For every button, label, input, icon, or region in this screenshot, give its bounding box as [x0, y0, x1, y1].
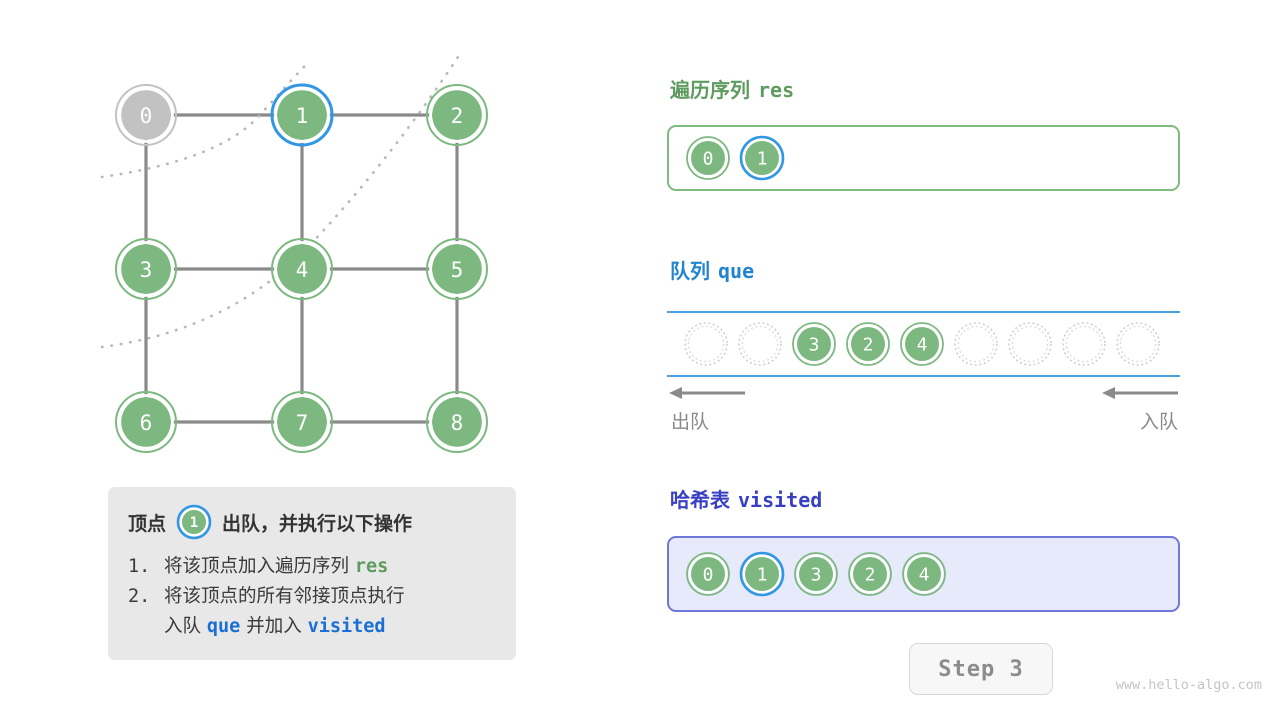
res-item: 0: [685, 135, 731, 181]
graph-panel: 012345678: [100, 55, 520, 475]
chip-label: 0: [703, 565, 714, 586]
queue-container: 324: [667, 311, 1180, 377]
code-token: visited: [308, 616, 386, 637]
caption-line: 入队 que 并加入 visited: [128, 612, 498, 642]
queue-empty-slot: [737, 321, 783, 367]
code-token-res: res: [355, 556, 388, 577]
queue-item: 2: [845, 321, 891, 367]
caption-heading: 顶点 1 出队，并执行以下操作: [128, 503, 498, 541]
enqueue-arrow-icon: [1100, 385, 1180, 405]
chip-label: 1: [757, 149, 768, 170]
chip-label: 2: [863, 335, 874, 356]
graph-node-3[interactable]: 3: [116, 239, 176, 299]
visited-title-cn: 哈希表: [670, 488, 730, 512]
graph-node-5[interactable]: 5: [427, 239, 487, 299]
queue-slot-list: 324: [683, 311, 1161, 377]
queue-empty-slot: [1007, 321, 1053, 367]
graph-node-0[interactable]: 0: [116, 85, 176, 145]
caption-head-prefix: 顶点: [128, 509, 166, 536]
visited-item: 3: [793, 551, 839, 597]
visited-item: 4: [901, 551, 947, 597]
empty-slot-outer: [1117, 323, 1159, 365]
node-label: 5: [451, 258, 464, 282]
queue-direction-row: 出队 入队: [667, 385, 1180, 445]
chip-label: 3: [811, 565, 822, 586]
graph-node-6[interactable]: 6: [116, 392, 176, 452]
queue-panel-title: 队列que: [670, 255, 754, 284]
res-title-code: res: [758, 78, 794, 102]
caption-line: 1.将该顶点加入遍历序列 res: [128, 552, 498, 582]
visited-container: 01324: [667, 536, 1180, 612]
chip-label: 3: [809, 335, 820, 356]
visited-panel-title: 哈希表visited: [670, 484, 822, 513]
node-label: 7: [296, 411, 309, 435]
enqueue-label: 入队: [1140, 407, 1178, 434]
queue-item: 4: [899, 321, 945, 367]
caption-text-run: 并加入: [240, 616, 307, 637]
visited-item: 2: [847, 551, 893, 597]
caption-line-text: 入队 que 并加入 visited: [164, 612, 386, 642]
code-token: que: [207, 616, 240, 637]
graph-node-2[interactable]: 2: [427, 85, 487, 145]
caption-line-text: 将该顶点的所有邻接顶点执行: [164, 582, 405, 612]
queue-empty-slot: [1061, 321, 1107, 367]
queue-item: 3: [791, 321, 837, 367]
empty-slot-inner: [1120, 326, 1155, 361]
empty-slot-inner: [958, 326, 993, 361]
queue-empty-slot: [1115, 321, 1161, 367]
res-item: 1: [739, 135, 785, 181]
graph-node-1[interactable]: 1: [272, 85, 332, 145]
step-badge: Step 3: [909, 643, 1053, 695]
caption-node-chip: 1: [175, 503, 213, 541]
caption-line-number: 2.: [128, 582, 164, 612]
visited-title-code: visited: [738, 488, 822, 512]
chip-label: 4: [917, 335, 928, 356]
graph-canvas: 012345678: [100, 55, 520, 475]
caption-line-indent: [128, 612, 164, 642]
watermark: www.hello-algo.com: [1116, 677, 1262, 693]
dequeue-label: 出队: [671, 407, 709, 434]
empty-slot-outer: [685, 323, 727, 365]
caption-line-number: 1.: [128, 552, 164, 582]
queue-title-code: que: [718, 259, 754, 283]
node-label: 8: [451, 411, 464, 435]
node-label: 3: [140, 258, 153, 282]
res-panel-title: 遍历序列res: [670, 74, 794, 103]
chip-label: 4: [919, 565, 930, 586]
empty-slot-inner: [1012, 326, 1047, 361]
chip-label: 1: [757, 565, 768, 586]
caption-text-run: 将该顶点加入遍历序列: [164, 556, 355, 577]
chip-label: 0: [703, 149, 714, 170]
res-title-cn: 遍历序列: [670, 78, 750, 102]
queue-empty-slot: [953, 321, 999, 367]
empty-slot-outer: [1009, 323, 1051, 365]
empty-slot-outer: [955, 323, 997, 365]
caption-box: 顶点 1 出队，并执行以下操作 1.将该顶点加入遍历序列 res2.将该顶点的所…: [108, 487, 516, 660]
empty-slot-outer: [739, 323, 781, 365]
res-container: 01: [667, 125, 1180, 191]
graph-node-7[interactable]: 7: [272, 392, 332, 452]
empty-slot-outer: [1063, 323, 1105, 365]
visited-item: 0: [685, 551, 731, 597]
queue-title-cn: 队列: [670, 259, 710, 283]
caption-line: 2.将该顶点的所有邻接顶点执行: [128, 582, 498, 612]
dequeue-arrow-icon: [667, 385, 747, 405]
chip-label: 2: [865, 565, 876, 586]
node-label: 1: [296, 104, 309, 128]
queue-empty-slot: [683, 321, 729, 367]
caption-line-text: 将该顶点加入遍历序列 res: [164, 552, 388, 582]
empty-slot-inner: [1066, 326, 1101, 361]
node-label: 0: [140, 104, 153, 128]
node-label: 2: [451, 104, 464, 128]
node-label: 4: [296, 258, 309, 282]
node-label: 6: [140, 411, 153, 435]
visited-item: 1: [739, 551, 785, 597]
caption-head-suffix: 出队，并执行以下操作: [222, 509, 412, 536]
empty-slot-inner: [742, 326, 777, 361]
caption-text-run: 将该顶点的所有邻接顶点执行: [164, 586, 405, 607]
caption-step-list: 1.将该顶点加入遍历序列 res2.将该顶点的所有邻接顶点执行入队 que 并加…: [128, 552, 498, 642]
empty-slot-inner: [688, 326, 723, 361]
caption-text-run: 入队: [164, 616, 207, 637]
graph-node-8[interactable]: 8: [427, 392, 487, 452]
graph-node-4[interactable]: 4: [272, 239, 332, 299]
chip-label: 1: [190, 515, 198, 531]
